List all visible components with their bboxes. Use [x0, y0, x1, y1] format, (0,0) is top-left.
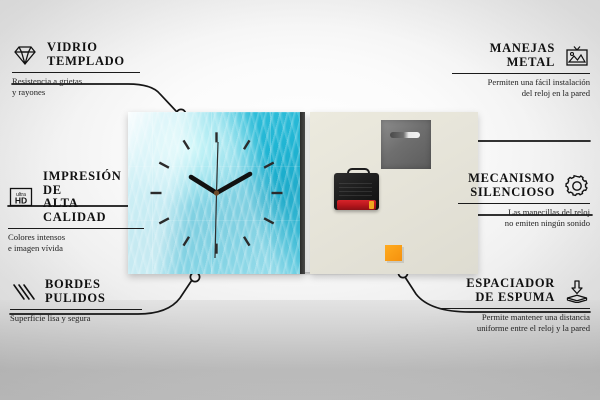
callout-description: Permite mantener una distancia uniforme … [440, 312, 590, 333]
callout-title: VIDRIO TEMPLADO [47, 41, 125, 68]
clock-tick [184, 140, 190, 149]
callout-title: MECANISMO SILENCIOSO [468, 172, 555, 199]
callout-title: ESPACIADOR DE ESPUMA [466, 277, 555, 304]
callout-description: Resistencia a grietas y rayones [12, 76, 140, 97]
callout-description: Las manecillas del reloj no emiten ningú… [458, 207, 590, 228]
hour-hand [191, 177, 217, 193]
infographic-canvas: VIDRIO TEMPLADO Resistencia a grietas y … [0, 0, 600, 400]
callout-title: BORDES PULIDOS [45, 278, 105, 305]
clock-tick [264, 218, 274, 223]
callout-description: Permiten una fácil instalación del reloj… [452, 77, 590, 98]
polished-edges-icon [10, 280, 36, 304]
callout-impresion-alta-calidad: ultra HD IMPRESIÓN DE ALTA CALIDAD Color… [8, 170, 144, 254]
clock-tick [244, 140, 250, 149]
clock-center-hub [214, 190, 219, 195]
callout-description: Colores intensos e imagen vívida [8, 232, 144, 253]
movement-body [334, 173, 379, 210]
product-image [128, 112, 378, 274]
battery [337, 200, 376, 210]
diamond-icon [12, 43, 38, 67]
wall-hanger-icon [564, 44, 590, 68]
callout-rule [12, 72, 140, 73]
svg-text:HD: HD [15, 196, 27, 206]
foam-spacer-icon [564, 279, 590, 303]
callout-rule [8, 228, 144, 229]
clock-tick [159, 218, 169, 223]
callout-title: IMPRESIÓN DE ALTA CALIDAD [43, 170, 144, 224]
minute-hand [217, 174, 251, 193]
foam-spacer [385, 245, 402, 261]
glass-edge [300, 112, 305, 274]
quartz-movement [334, 168, 379, 210]
callout-rule [452, 73, 590, 74]
movement-detail [339, 183, 372, 196]
ultra-hd-icon: ultra HD [8, 185, 34, 209]
callout-title: MANEJAS METAL [490, 42, 555, 69]
callout-vidrio-templado: VIDRIO TEMPLADO Resistencia a grietas y … [12, 41, 140, 98]
hanger-keyhole-slot [390, 132, 420, 138]
second-hand-tail [217, 142, 219, 193]
callout-rule [458, 203, 590, 204]
callout-bordes-pulidos: BORDES PULIDOS Superficie lisa y segura [10, 278, 142, 324]
clock-tick [264, 163, 274, 168]
clock-tick [159, 163, 169, 168]
callout-rule [10, 309, 142, 310]
callout-manejas-metal: MANEJAS METAL Permiten una fácil instala… [452, 42, 590, 99]
metal-hanger-plate [381, 120, 431, 169]
clock-tick [244, 237, 250, 246]
gear-icon [564, 174, 590, 198]
clock-face [128, 112, 305, 274]
callout-description: Superficie lisa y segura [10, 313, 142, 324]
callout-rule [440, 308, 590, 309]
callout-espaciador-espuma: ESPACIADOR DE ESPUMA Permite mantener un… [440, 277, 590, 334]
clock-tick [184, 237, 190, 246]
clock-dial [128, 112, 305, 274]
callout-mecanismo-silencioso: MECANISMO SILENCIOSO Las manecillas del … [458, 172, 590, 229]
clock-back-panel [310, 112, 478, 274]
clock-hands [191, 142, 250, 258]
